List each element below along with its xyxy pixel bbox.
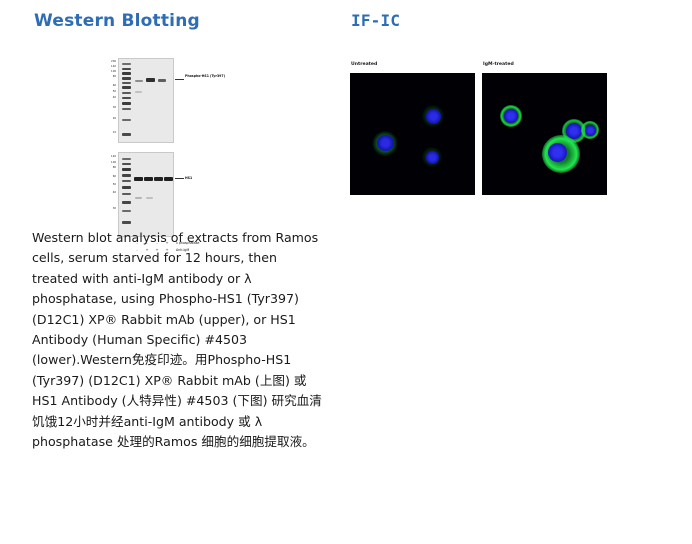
blot-label-phospho-hs1: Phospho-HS1 (Tyr397) — [185, 74, 225, 78]
western-blotting-column: Western Blotting — [0, 0, 346, 544]
cell-nucleus — [377, 135, 394, 151]
mw-ladder-upper — [122, 59, 131, 142]
mw-labels-lower: 140 100 80 60 50 40 30 — [102, 152, 117, 237]
if-panel-untreated — [350, 73, 475, 195]
blot-band — [146, 78, 155, 82]
blot-band — [158, 79, 166, 82]
if-panel-label-untreated: Untreated — [351, 61, 377, 68]
cell-nucleus — [548, 143, 567, 162]
figure-page: Western Blotting — [0, 0, 692, 544]
blot-band — [146, 197, 153, 199]
section-title-western-blotting: Western Blotting — [34, 11, 200, 31]
cell-nucleus — [504, 109, 518, 123]
western-blot-lower-panel — [118, 152, 174, 237]
blot-band — [135, 197, 142, 199]
if-ic-column: IF-IC Untreated IgM-treated — [346, 0, 692, 544]
western-blot-caption: Western blot analysis of extracts from R… — [32, 228, 324, 452]
mw-ladder-lower — [122, 153, 131, 236]
immunofluorescence-figure: Untreated IgM-treated — [348, 60, 620, 212]
western-blot-upper-panel — [118, 58, 174, 143]
cell-nucleus — [585, 125, 596, 136]
blot-band — [134, 177, 143, 181]
blot-band — [135, 91, 142, 93]
blot-band — [144, 177, 153, 181]
blot-band — [164, 177, 173, 181]
cell-nucleus — [426, 109, 441, 124]
mw-labels-upper: 200 140 100 80 60 50 40 30 20 15 — [102, 58, 117, 143]
if-panel-label-igm-treated: IgM-treated — [483, 61, 514, 68]
blot-band — [135, 80, 143, 82]
leader-line-upper — [175, 79, 184, 80]
cell-nucleus — [426, 151, 439, 164]
western-blot-figure: 200 140 100 80 60 50 40 30 20 15 Phospho… — [118, 52, 213, 217]
section-title-if-ic: IF-IC — [351, 11, 400, 30]
if-panel-igm-treated — [482, 73, 607, 195]
blot-label-hs1: HS1 — [185, 176, 192, 180]
blot-band — [154, 177, 163, 181]
leader-line-lower — [175, 178, 184, 179]
cell-nucleus — [566, 123, 582, 139]
